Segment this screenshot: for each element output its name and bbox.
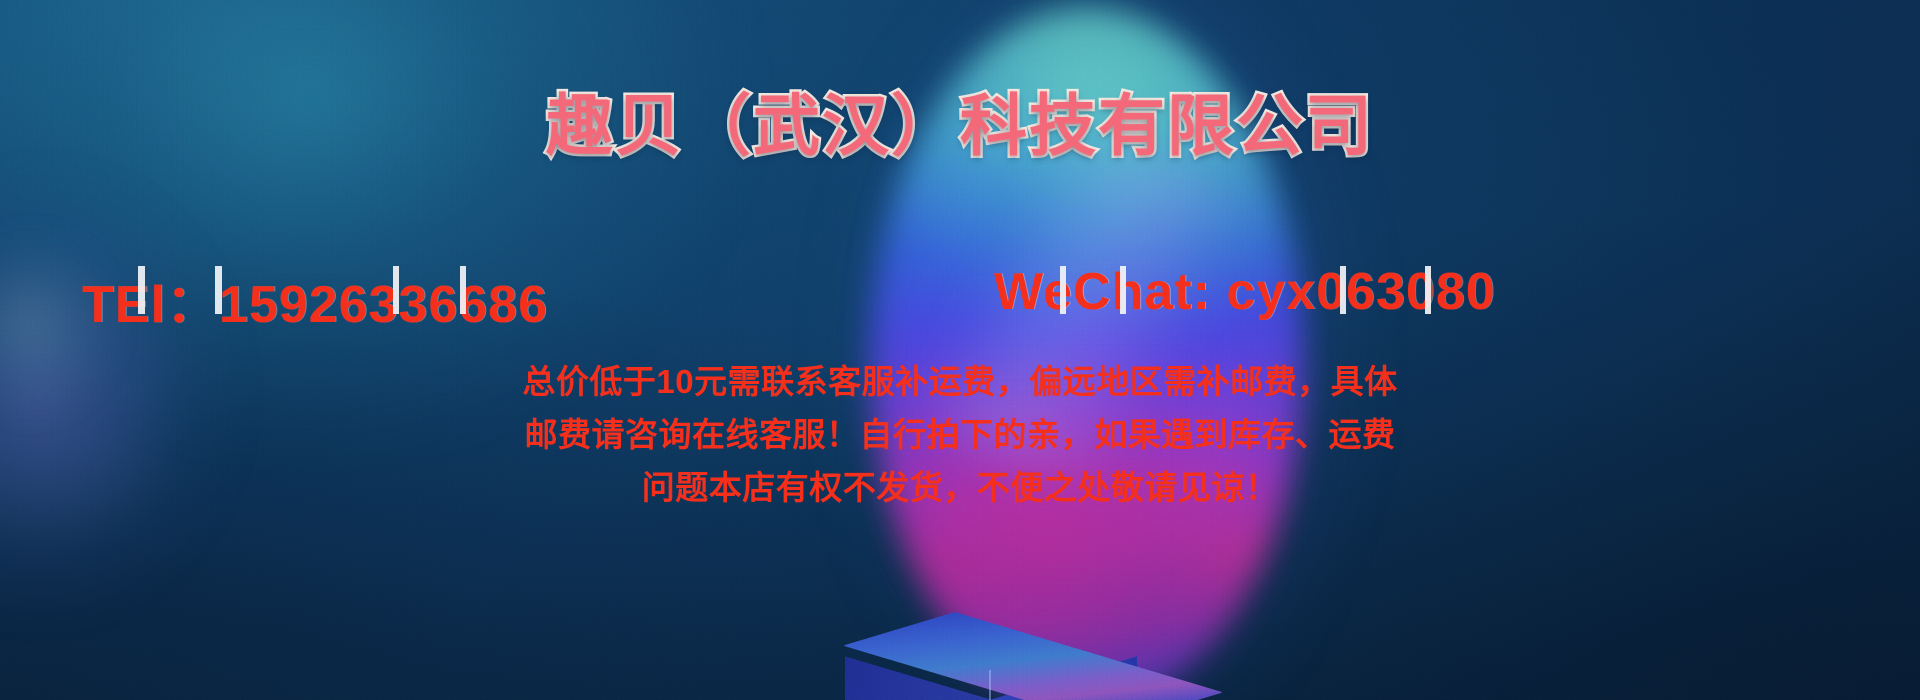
- shipping-notice: 总价低于10元需联系客服补运费，偏远地区需补邮费，具体 邮费请咨询在线客服！自行…: [0, 355, 1920, 514]
- glitch-sliver: [138, 266, 145, 314]
- glitch-sliver: [1120, 266, 1126, 314]
- wechat-text: WeChat: cyx063080: [994, 262, 1496, 322]
- notice-line-3: 问题本店有权不发货，不便之处敬请见谅！: [0, 461, 1920, 514]
- promo-banner: 趣贝（武汉）科技有限公司 TEl：15926336686 WeChat: cyx…: [0, 0, 1920, 700]
- glitch-sliver: [460, 266, 466, 314]
- notice-line-2: 邮费请咨询在线客服！自行拍下的亲，如果遇到库存、运费: [0, 408, 1920, 461]
- glitch-sliver: [1425, 266, 1431, 314]
- telephone-text: TEl：15926336686: [82, 262, 548, 337]
- glitch-sliver: [215, 266, 222, 314]
- glitch-sliver: [1340, 266, 1346, 314]
- glitch-sliver: [393, 266, 399, 314]
- glitch-sliver: [1060, 266, 1066, 314]
- notice-line-1: 总价低于10元需联系客服补运费，偏远地区需补邮费，具体: [0, 355, 1920, 408]
- page-title: 趣贝（武汉）科技有限公司: [0, 72, 1920, 169]
